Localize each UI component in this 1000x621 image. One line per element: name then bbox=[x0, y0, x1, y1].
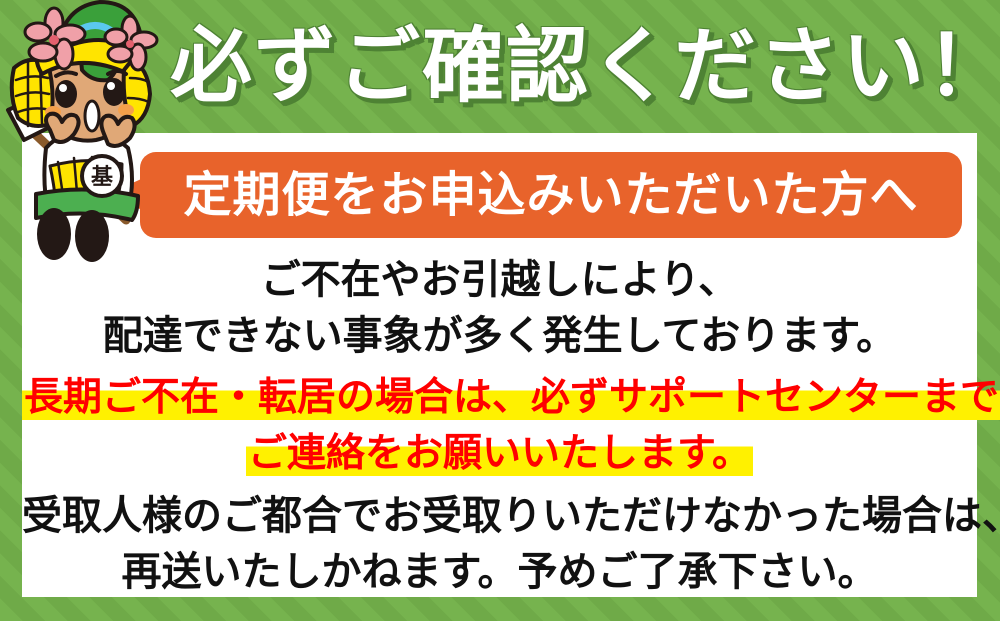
notice-line-4: ご連絡をお願いいたします。 bbox=[22, 426, 977, 482]
notice-text-block: ご不在やお引越しにより、 配達できない事象が多く発生しております。 長期ご不在・… bbox=[22, 252, 977, 600]
notice-line-5: 受取人様のご都合でお受取りいただけなかった場合は、 bbox=[22, 488, 977, 544]
notice-line-6: 再送いたしかねます。予めご了承下さい。 bbox=[22, 544, 977, 600]
notice-line-2: 配達できない事象が多く発生しております。 bbox=[22, 308, 977, 364]
notice-line-3: 長期ご不在・転居の場合は、必ずサポートセンターまで bbox=[22, 370, 977, 426]
page-title: 必ずご確認ください！ bbox=[190, 8, 990, 126]
emblem-kanji: 基 bbox=[91, 165, 114, 190]
notice-banner-image: 必ずご確認ください！ 定期便をお申込みいただいた方へ ご不在やお引越しにより、 … bbox=[0, 0, 1000, 621]
mascot-illustration: 基 bbox=[0, 0, 180, 298]
subscription-banner: 定期便をお申込みいただいた方へ bbox=[140, 152, 962, 238]
subscription-banner-label: 定期便をお申込みいただいた方へ bbox=[183, 171, 918, 219]
